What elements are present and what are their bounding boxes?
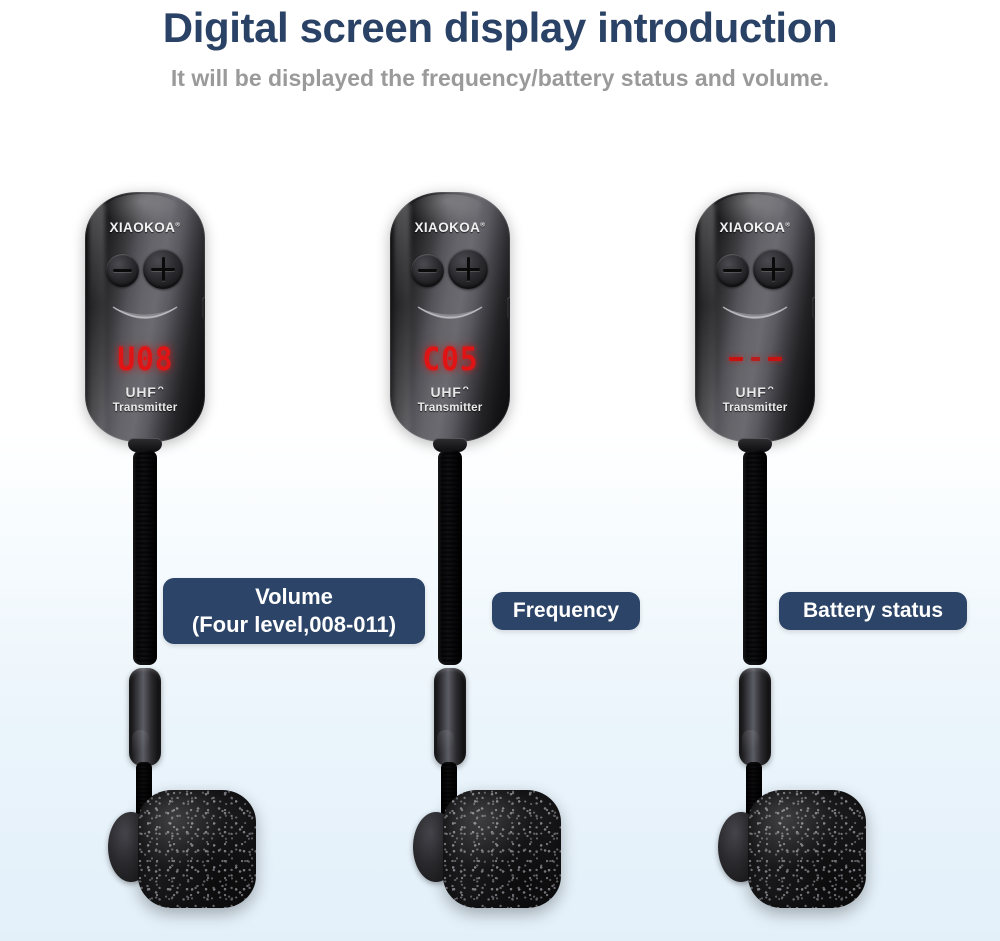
registered-mark: ®	[480, 222, 485, 229]
foam-windscreen	[138, 790, 256, 908]
device-sub-label: Transmitter	[695, 402, 815, 414]
callout-battery-status: Battery status	[779, 592, 967, 630]
battery-dash-1	[729, 357, 743, 361]
gooseneck-upper[interactable]	[743, 450, 767, 665]
battery-dash-2	[751, 357, 760, 361]
registered-mark: ®	[785, 222, 790, 229]
side-power-button[interactable]	[812, 297, 815, 319]
callout-frequency-label: Frequency	[513, 598, 619, 624]
page-subtitle: It will be displayed the frequency/batte…	[0, 63, 1000, 93]
plus-icon-vertical	[162, 257, 165, 281]
led-display-value: U08	[117, 342, 173, 376]
transmitter-body: XIAOKOA®	[85, 192, 205, 442]
control-buttons	[85, 248, 205, 294]
volume-down-button[interactable]	[106, 254, 139, 287]
control-buttons	[390, 248, 510, 294]
volume-up-button[interactable]	[143, 249, 183, 289]
brand-name: XIAOKOA	[719, 220, 785, 235]
led-display: C05	[390, 338, 510, 380]
volume-up-button[interactable]	[448, 249, 488, 289]
transmitter-unit-battery: XIAOKOA®	[620, 170, 920, 941]
microphone-head	[443, 790, 561, 908]
callout-volume-line1: Volume	[255, 583, 333, 611]
transmitter-unit-volume: XIAOKOA®	[10, 170, 310, 941]
uhf-text: UHF	[735, 384, 766, 400]
foam-windscreen	[748, 790, 866, 908]
device-type-label: UHFᴖ	[85, 384, 205, 400]
plus-icon-vertical	[772, 257, 775, 281]
volume-down-button[interactable]	[411, 254, 444, 287]
volume-down-button[interactable]	[716, 254, 749, 287]
infographic-page: Digital screen display introduction It w…	[0, 0, 1000, 941]
callout-volume-line2: (Four level,008-011)	[192, 611, 396, 639]
smile-decoration	[111, 304, 179, 330]
callout-frequency: Frequency	[492, 592, 640, 630]
header: Digital screen display introduction It w…	[0, 0, 1000, 93]
uhf-text: UHF	[430, 384, 461, 400]
product-stage: XIAOKOA®	[0, 170, 1000, 941]
battery-dash-3	[768, 357, 782, 361]
minus-icon	[723, 269, 742, 272]
plus-icon-vertical	[467, 257, 470, 281]
gooseneck-collar	[739, 668, 771, 766]
side-power-button[interactable]	[202, 297, 205, 319]
callout-volume: Volume (Four level,008-011)	[163, 578, 425, 644]
led-display	[695, 338, 815, 380]
smile-decoration	[416, 304, 484, 330]
led-display-value: C05	[422, 342, 478, 376]
brand-name: XIAOKOA	[109, 220, 175, 235]
brand-name: XIAOKOA	[414, 220, 480, 235]
gooseneck-collar	[434, 668, 466, 766]
signal-wave-icon: ᴖ	[158, 384, 165, 395]
minus-icon	[113, 269, 132, 272]
registered-mark: ®	[175, 222, 180, 229]
volume-up-button[interactable]	[753, 249, 793, 289]
smile-decoration	[721, 304, 789, 330]
signal-wave-icon: ᴖ	[463, 384, 470, 395]
gooseneck-collar	[129, 668, 161, 766]
led-display: U08	[85, 338, 205, 380]
device-type-label: UHFᴖ	[695, 384, 815, 400]
page-title: Digital screen display introduction	[0, 2, 1000, 54]
brand-logo: XIAOKOA®	[85, 220, 205, 235]
brand-logo: XIAOKOA®	[695, 220, 815, 235]
microphone-head	[138, 790, 256, 908]
signal-wave-icon: ᴖ	[768, 384, 775, 395]
callout-battery-label: Battery status	[803, 598, 943, 624]
device-type-label: UHFᴖ	[390, 384, 510, 400]
gooseneck-upper[interactable]	[133, 450, 157, 665]
led-display-value-dashes	[729, 338, 782, 380]
side-power-button[interactable]	[507, 297, 510, 319]
device-sub-label: Transmitter	[85, 402, 205, 414]
foam-windscreen	[443, 790, 561, 908]
gooseneck-upper[interactable]	[438, 450, 462, 665]
transmitter-unit-frequency: XIAOKOA®	[315, 170, 615, 941]
control-buttons	[695, 248, 815, 294]
device-sub-label: Transmitter	[390, 402, 510, 414]
transmitter-body: XIAOKOA®	[390, 192, 510, 442]
minus-icon	[418, 269, 437, 272]
uhf-text: UHF	[125, 384, 156, 400]
microphone-head	[748, 790, 866, 908]
brand-logo: XIAOKOA®	[390, 220, 510, 235]
transmitter-body: XIAOKOA®	[695, 192, 815, 442]
